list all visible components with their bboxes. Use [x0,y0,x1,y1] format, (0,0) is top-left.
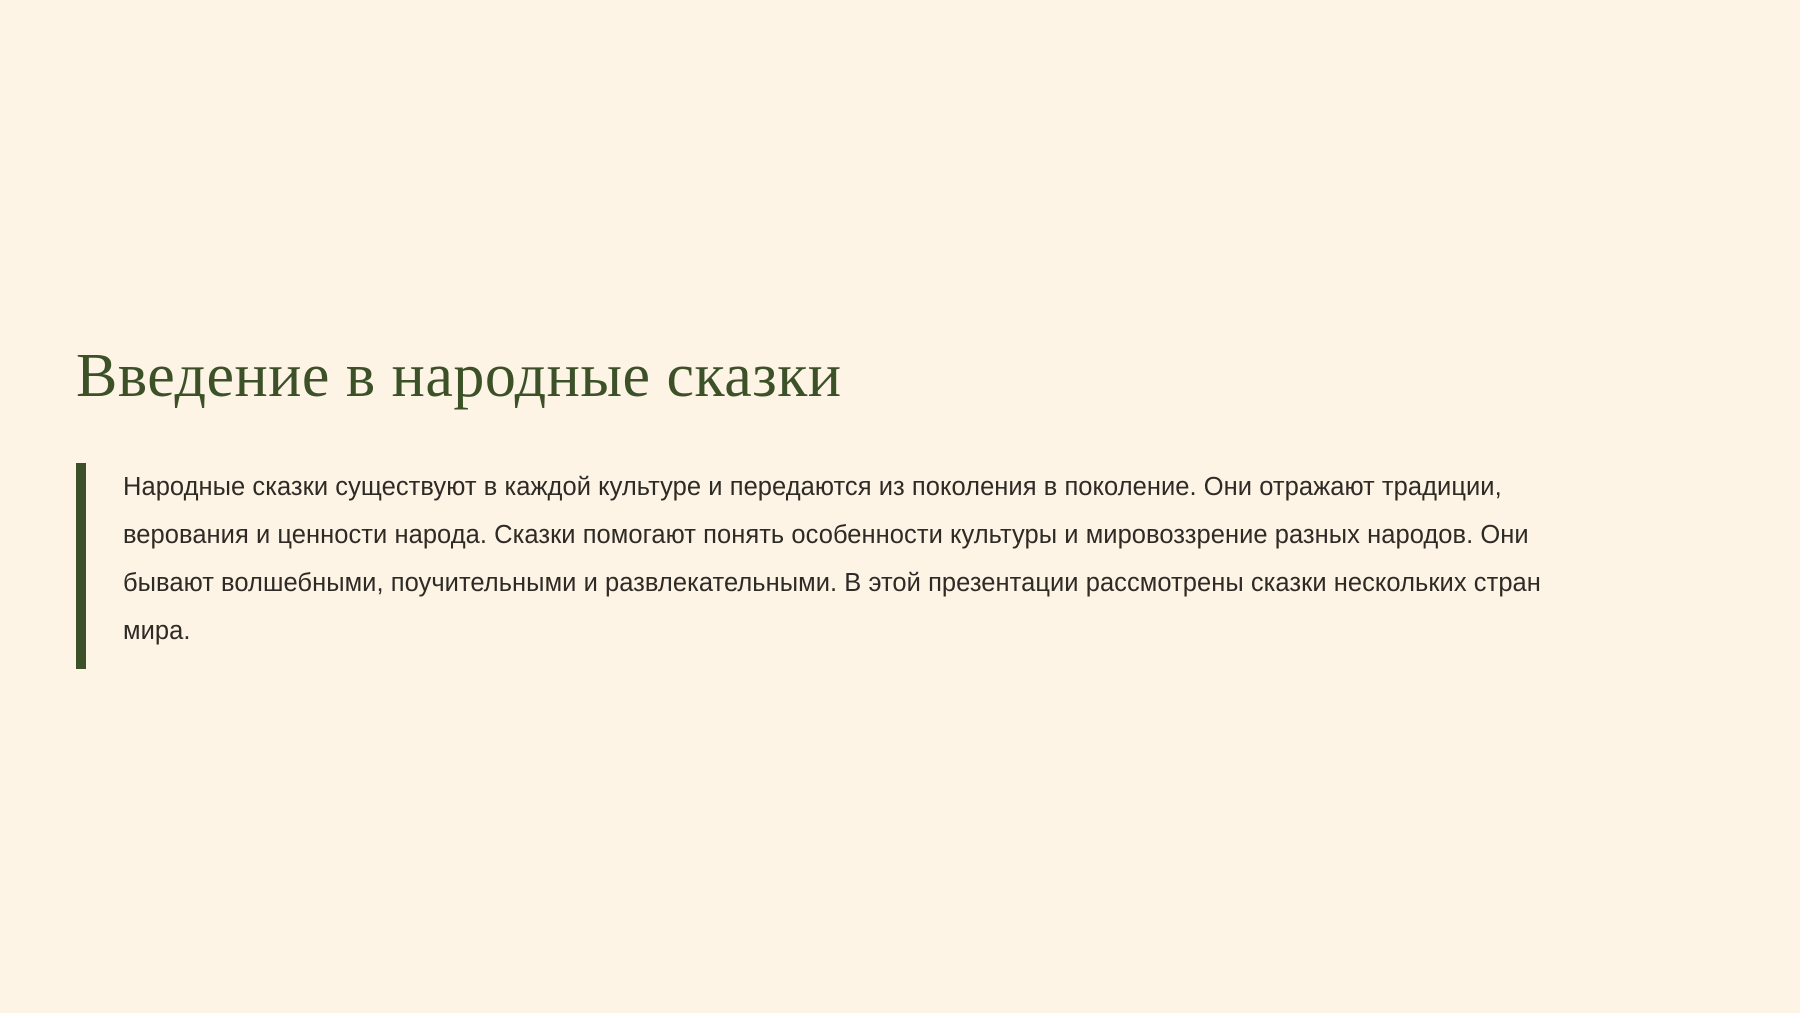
body-paragraph: Народные сказки существуют в каждой куль… [86,463,1543,669]
presentation-slide: Введение в народные сказки Народные сказ… [0,0,1800,1013]
accent-bar [76,463,86,669]
body-callout-block: Народные сказки существуют в каждой куль… [76,463,1716,669]
page-title: Введение в народные сказки [76,344,1696,409]
